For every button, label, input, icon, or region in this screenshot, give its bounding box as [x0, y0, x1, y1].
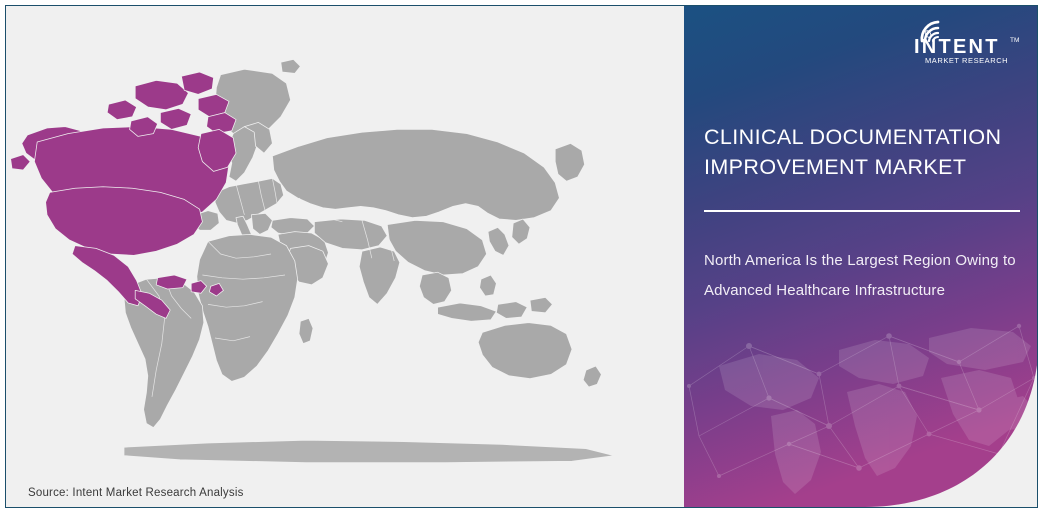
- logo-wordmark: INTENT: [914, 36, 1000, 58]
- brand-logo[interactable]: INTENT TM MARKET RESEARCH: [907, 14, 1025, 66]
- map-highlight-north-america: [11, 72, 236, 318]
- headline-panel: INTENT TM MARKET RESEARCH CLINICAL DOCUM…: [679, 6, 1038, 507]
- page-title: CLINICAL DOCUMENTATION IMPROVEMENT MARKE…: [704, 122, 1024, 182]
- panel-subtitle: North America Is the Largest Region Owin…: [704, 246, 1020, 306]
- card-frame: Source: Intent Market Research Analysis: [5, 5, 1038, 508]
- logo-trademark: TM: [1010, 37, 1019, 44]
- logo-tagline: MARKET RESEARCH: [925, 56, 1008, 65]
- intent-market-research-logo: INTENT TM MARKET RESEARCH: [907, 14, 1025, 66]
- world-map-graphic: [6, 44, 686, 464]
- source-note: Source: Intent Market Research Analysis: [28, 487, 244, 499]
- infographic-root: Source: Intent Market Research Analysis: [0, 0, 1043, 513]
- map-landmasses: [124, 59, 614, 462]
- title-divider: [704, 210, 1020, 212]
- world-map-panel: Source: Intent Market Research Analysis: [6, 6, 686, 507]
